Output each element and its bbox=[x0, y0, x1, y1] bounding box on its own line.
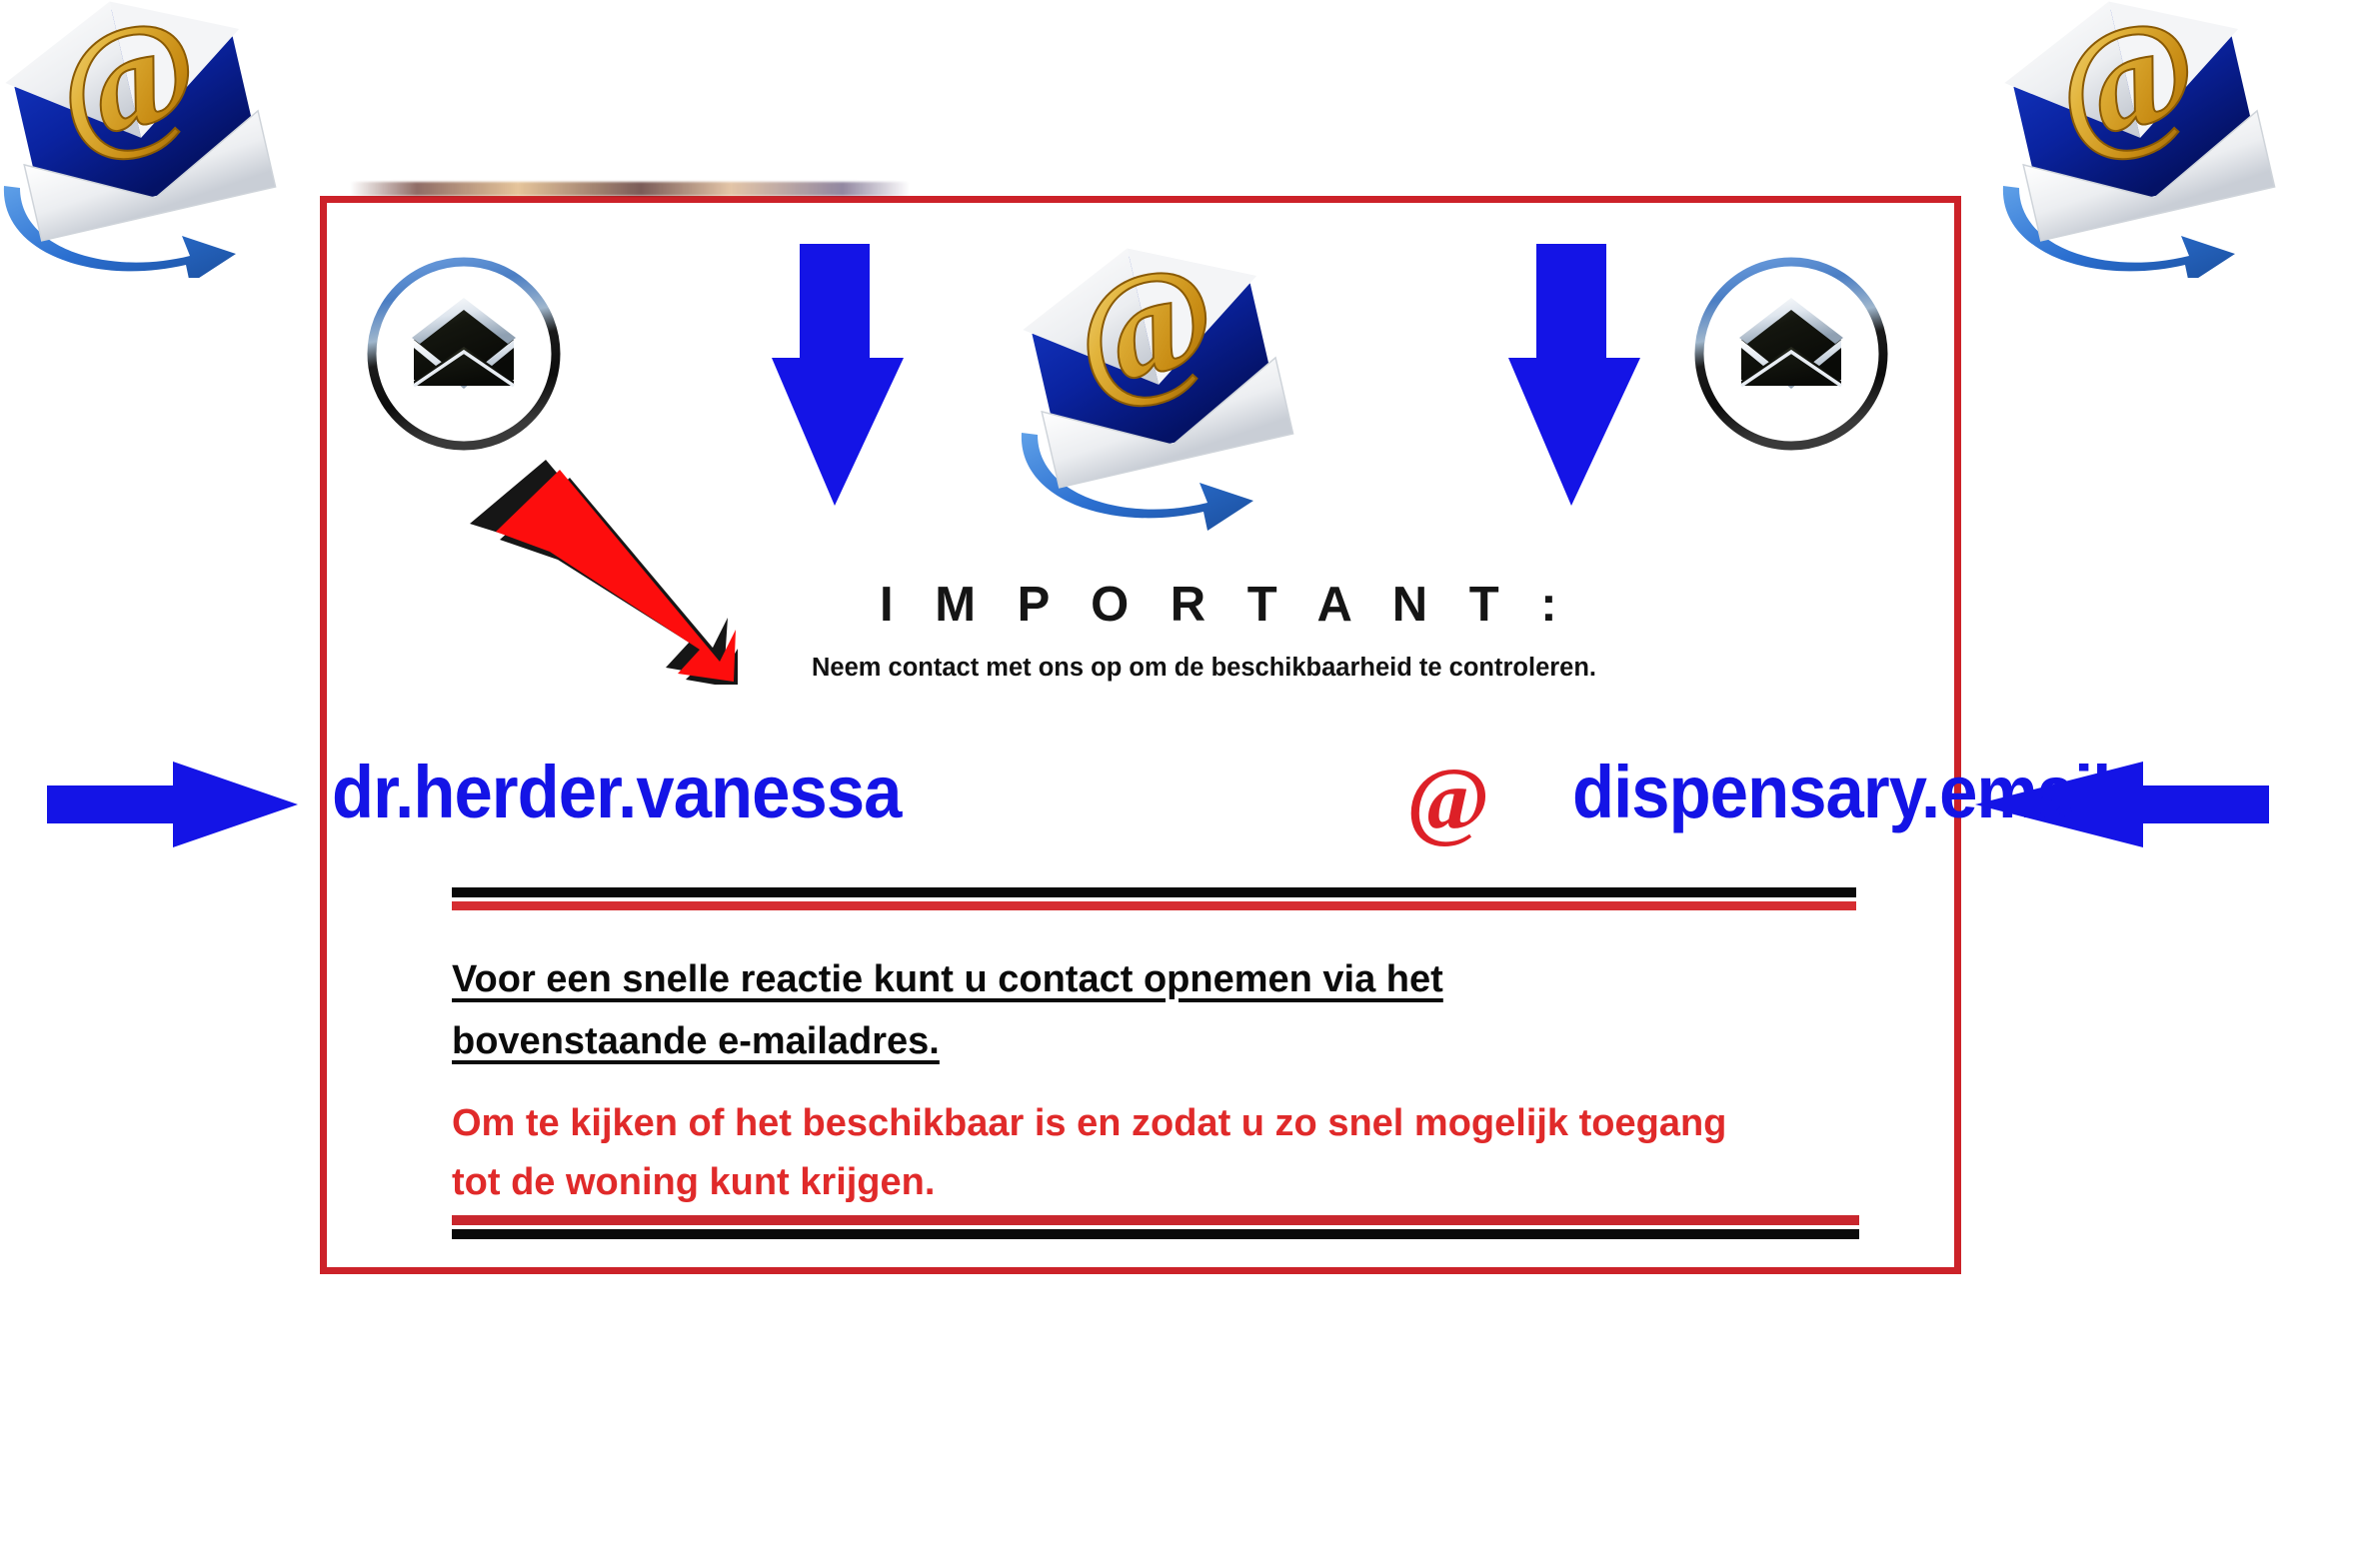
circle-envelope-icon bbox=[1689, 252, 1893, 456]
circle-envelope-icon bbox=[362, 252, 566, 456]
blue-arrow-down-icon bbox=[768, 240, 908, 510]
important-heading: I M P O R T A N T : bbox=[880, 577, 1519, 633]
email-address-row[interactable]: dr.herder.vanessa @ dispensary.email bbox=[320, 742, 1961, 861]
contact-note: Neem contact met ons op om de beschikbaa… bbox=[812, 650, 1611, 686]
faded-cutoff-text bbox=[350, 182, 910, 196]
email-local-part[interactable]: dr.herder.vanessa bbox=[332, 750, 902, 834]
divider-black-bottom bbox=[452, 1229, 1859, 1239]
email-envelope-at-icon: @ bbox=[1989, 0, 2289, 278]
divider-red-bottom bbox=[452, 1215, 1859, 1225]
email-domain-part[interactable]: dispensary.email bbox=[1572, 750, 2111, 834]
blue-arrow-right-icon bbox=[45, 760, 300, 849]
divider-black-top bbox=[452, 887, 1856, 897]
blue-arrow-down-icon bbox=[1504, 240, 1644, 510]
email-envelope-at-icon: @ bbox=[0, 0, 290, 278]
red-arrow-diagonal-icon bbox=[448, 440, 738, 685]
at-symbol-icon: @ bbox=[1406, 756, 1490, 845]
availability-note-text: Om te kijken of het beschikbaar is en zo… bbox=[452, 1094, 1751, 1212]
divider-red-top bbox=[452, 901, 1856, 910]
email-envelope-at-icon: @ bbox=[1008, 213, 1307, 553]
quick-reply-text: Voor een snelle reactie kunt u contact o… bbox=[452, 949, 1611, 1072]
